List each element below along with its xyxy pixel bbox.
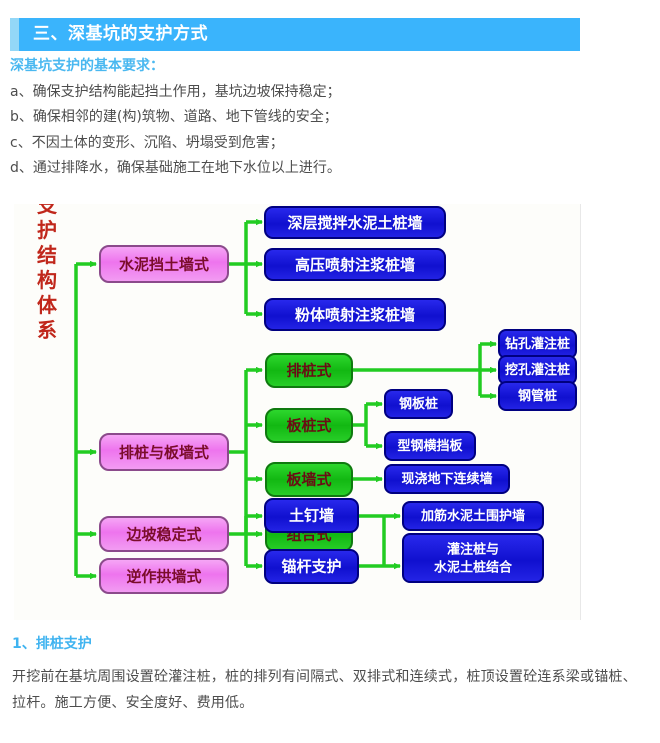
node-plank-wall-label: 板墙式 <box>286 471 331 489</box>
node-high-pressure-jet[interactable]: 高压喷射注浆桩墙 <box>265 249 445 280</box>
bottom-block: 1、排桩支护 开挖前在基坑周围设置砼灌注桩，桩的排列有间隔式、双排式和连续式，桩… <box>12 636 642 717</box>
node-slope-stable-label: 边坡稳定式 <box>125 526 201 544</box>
node-h-steel-lagging-label: 型钢横挡板 <box>397 438 463 454</box>
node-row-pile-label: 排桩式 <box>286 362 331 380</box>
header-bar: 三、深基坑的支护方式 <box>19 18 580 51</box>
intro-block: 深基坑支护的基本要求： a、确保支护结构能起挡土作用，基坑边坡保持稳定； b、确… <box>10 58 630 186</box>
node-dug-pile-label: 挖孔灌注桩 <box>505 362 570 378</box>
node-plank-wall[interactable]: 板墙式 <box>266 463 352 496</box>
node-sheet-pile[interactable]: 板桩式 <box>266 409 352 442</box>
page-root: 三、深基坑的支护方式 深基坑支护的基本要求： a、确保支护结构能起挡土作用，基坑… <box>0 0 660 743</box>
requirement-a: a、确保支护结构能起挡土作用，基坑边坡保持稳定； <box>10 84 630 102</box>
node-cement-wall[interactable]: 水泥挡土墙式 <box>100 246 228 282</box>
node-steel-pipe-pile[interactable]: 钢管桩 <box>499 382 576 410</box>
node-steel-sheet-pile[interactable]: 钢板桩 <box>385 390 452 418</box>
node-dug-pile[interactable]: 挖孔灌注桩 <box>499 356 576 384</box>
diagram-root-node[interactable]: 常用的支护结构体系 <box>34 204 58 345</box>
node-powder-jet-label: 粉体喷射注浆桩墙 <box>295 306 415 324</box>
root-label-char-0: 常用的支护结构体系 <box>34 204 58 345</box>
node-anchor-support-label: 锚杆支护 <box>281 558 341 576</box>
node-diaphragm-wall-label: 现浇地下连续墙 <box>401 471 492 487</box>
node-h-steel-lagging[interactable]: 型钢横挡板 <box>385 432 475 460</box>
bottom-subtitle: 1、排桩支护 <box>12 636 642 653</box>
node-pile-cement-combo[interactable]: 灌注桩与 水泥土桩结合 <box>403 534 543 582</box>
node-pile-cement-combo-line1: 灌注桩与 <box>447 542 499 558</box>
node-diaphragm-wall[interactable]: 现浇地下连续墙 <box>385 465 509 493</box>
requirement-c: c、不因土体的变形、沉陷、坍塌受到危害； <box>10 135 630 153</box>
node-reverse-arch-wall[interactable]: 逆作拱墙式 <box>100 559 228 593</box>
node-reinforced-cement-wall[interactable]: 加筋水泥土围护墙 <box>403 502 543 530</box>
node-slope-stable[interactable]: 边坡稳定式 <box>100 517 228 551</box>
requirement-b: b、确保相邻的建(构)筑物、道路、地下管线的安全； <box>10 109 630 127</box>
node-steel-sheet-pile-label: 钢板桩 <box>399 396 438 412</box>
requirement-d: d、通过排降水，确保基础施工在地下水位以上进行。 <box>10 160 630 178</box>
node-soil-nail-wall-label: 土钉墙 <box>289 507 334 525</box>
bottom-paragraph: 开挖前在基坑周围设置砼灌注桩，桩的排列有间隔式、双排式和连续式，桩顶设置砼连系梁… <box>12 665 642 717</box>
node-pile-plank-wall-label: 排桩与板墙式 <box>119 444 209 462</box>
node-powder-jet[interactable]: 粉体喷射注浆桩墙 <box>265 299 445 330</box>
node-reverse-arch-wall-label: 逆作拱墙式 <box>126 568 201 586</box>
intro-lead: 深基坑支护的基本要求： <box>10 58 630 75</box>
node-cement-wall-label: 水泥挡土墙式 <box>119 256 209 274</box>
node-pile-plank-wall[interactable]: 排桩与板墙式 <box>100 434 228 470</box>
node-deep-mixing[interactable]: 深层搅拌水泥土桩墙 <box>265 207 445 238</box>
header-accent-bar <box>10 18 19 51</box>
node-reinforced-cement-wall-label: 加筋水泥土围护墙 <box>420 508 525 524</box>
node-sheet-pile-label: 板桩式 <box>286 417 331 435</box>
support-structure-diagram: 常用的支护结构体系 水泥挡土墙式 排桩与板墙式 边坡稳定式 逆作拱墙式 <box>14 204 581 620</box>
node-soil-nail-wall[interactable]: 土钉墙 <box>265 499 358 532</box>
page-title: 三、深基坑的支护方式 <box>19 26 208 43</box>
node-bored-pile-label: 钻孔灌注桩 <box>505 336 570 352</box>
node-steel-pipe-pile-label: 钢管桩 <box>518 388 557 404</box>
node-bored-pile[interactable]: 钻孔灌注桩 <box>499 330 576 358</box>
node-row-pile[interactable]: 排桩式 <box>266 354 352 387</box>
node-anchor-support[interactable]: 锚杆支护 <box>265 550 358 583</box>
node-pile-cement-combo-line2: 水泥土桩结合 <box>434 560 513 576</box>
node-deep-mixing-label: 深层搅拌水泥土桩墙 <box>287 214 422 232</box>
section-header: 三、深基坑的支护方式 <box>10 18 580 51</box>
node-high-pressure-jet-label: 高压喷射注浆桩墙 <box>295 256 415 274</box>
